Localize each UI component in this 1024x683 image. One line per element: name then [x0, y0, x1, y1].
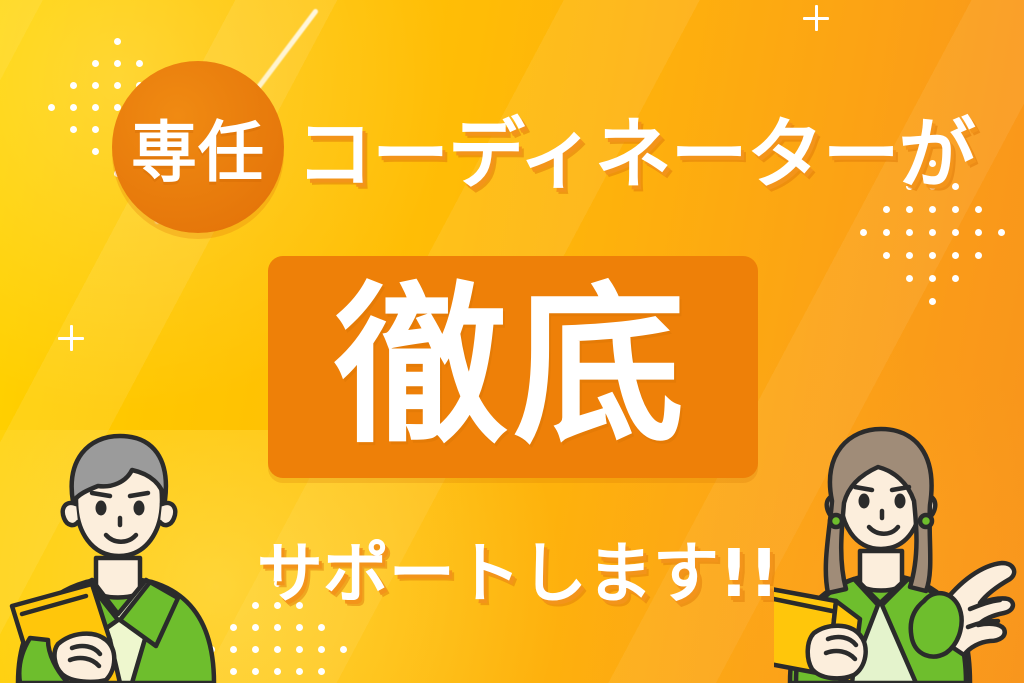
badge-label: 専任 [112, 61, 284, 233]
sparkle-mid-left-icon [58, 325, 84, 351]
right-person-illustration [774, 405, 1024, 683]
left-person-illustration [0, 408, 240, 683]
feature-word: 徹底 [268, 256, 758, 478]
headline-line-1: コーディネーターが [296, 96, 916, 200]
headline-line-3: サポートします!! [258, 522, 778, 614]
sparkle-top-right-icon [803, 5, 829, 31]
promo-banner: 専任 コーディネーターが 徹底 サポートします!! [0, 0, 1024, 683]
